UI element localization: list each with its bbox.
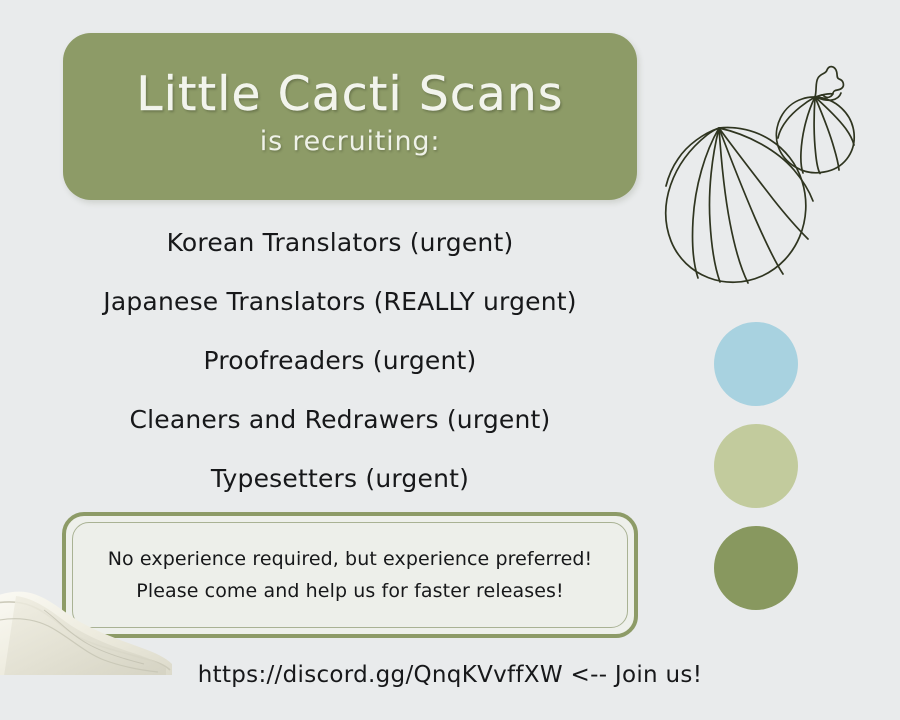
role-item: Cleaners and Redrawers (urgent) — [129, 390, 550, 449]
swatch-blue — [714, 322, 798, 406]
note-box: No experience required, but experience p… — [62, 512, 638, 638]
role-item: Korean Translators (urgent) — [167, 213, 514, 272]
discord-invite-text[interactable]: https://discord.gg/QnqKVvffXW <-- Join u… — [198, 662, 702, 688]
swatch-olive — [714, 526, 798, 610]
page-title: Little Cacti Scans — [136, 70, 563, 119]
recruitment-poster: Little Cacti Scans is recruiting: — [0, 0, 900, 720]
swatch-sage — [714, 424, 798, 508]
role-item: Japanese Translators (REALLY urgent) — [103, 272, 576, 331]
role-item: Typesetters (urgent) — [211, 449, 469, 508]
header-banner: Little Cacti Scans is recruiting: — [63, 33, 637, 200]
cactus-illustration — [660, 40, 890, 300]
roles-list: Korean Translators (urgent) Japanese Tra… — [40, 213, 640, 508]
note-line-1: No experience required, but experience p… — [108, 543, 593, 575]
note-line-2: Please come and help us for faster relea… — [136, 575, 563, 607]
page-subtitle: is recruiting: — [260, 126, 440, 157]
note-box-inner: No experience required, but experience p… — [72, 522, 628, 628]
cactus-svg — [660, 40, 890, 300]
role-item: Proofreaders (urgent) — [204, 331, 477, 390]
discord-link-line[interactable]: https://discord.gg/QnqKVvffXW <-- Join u… — [0, 662, 900, 688]
